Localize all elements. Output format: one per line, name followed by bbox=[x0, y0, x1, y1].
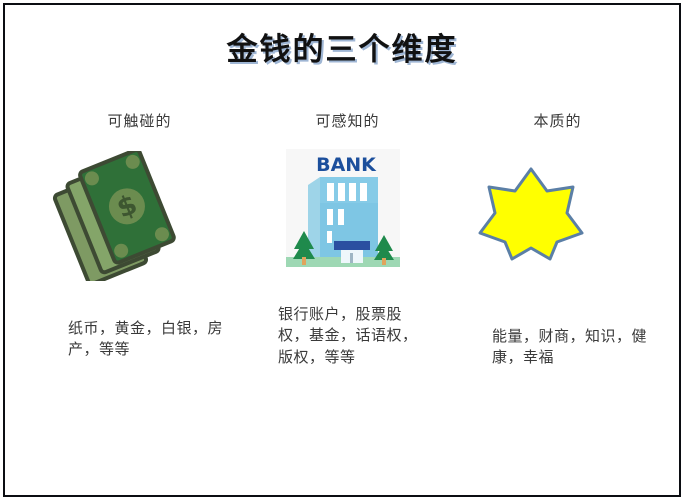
art-slot-perceived: BANK bbox=[240, 149, 455, 284]
column-body-tangible: 纸币，黄金，白银，房产，等等 bbox=[32, 318, 228, 361]
bank-wordmark-text: BANK bbox=[316, 154, 377, 176]
slide-canvas: 金钱的三个维度 可触碰的 bbox=[0, 0, 684, 500]
art-slot-essential bbox=[450, 149, 665, 284]
column-heading-tangible: 可触碰的 bbox=[32, 110, 247, 131]
column-heading-perceived: 可感知的 bbox=[240, 110, 455, 131]
bank-building-icon: BANK bbox=[286, 149, 400, 267]
column-essential: 本质的 能量，财商，知识，健康，幸福 bbox=[450, 110, 665, 369]
art-slot-tangible: $ bbox=[32, 149, 247, 284]
column-body-perceived: 银行账户，股票股权，基金，话语权，版权，等等 bbox=[240, 304, 428, 368]
column-perceived: 可感知的 BANK bbox=[240, 110, 455, 368]
column-tangible: 可触碰的 $ bbox=[32, 110, 247, 361]
column-body-essential: 能量，财商，知识，健康，幸福 bbox=[450, 326, 647, 369]
slide-title: 金钱的三个维度 bbox=[0, 24, 684, 69]
seven-point-star-icon bbox=[478, 163, 584, 263]
banknotes-icon: $ bbox=[44, 151, 194, 281]
column-heading-essential: 本质的 bbox=[450, 110, 665, 131]
